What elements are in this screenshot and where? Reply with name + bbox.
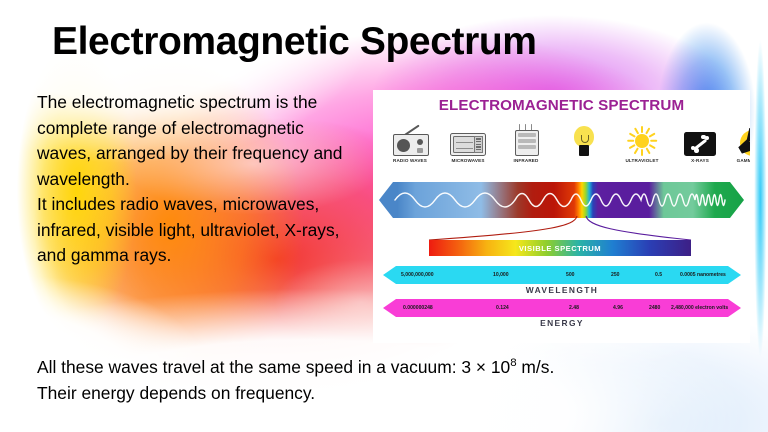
electromagnetic-spectrum-infographic: ELECTROMAGNETIC SPECTRUM RADIO WAVES (373, 90, 750, 343)
microwave-icon (439, 118, 497, 156)
page-title: Electromagnetic Spectrum (52, 21, 537, 63)
band-microwaves: MICROWAVES (439, 118, 497, 170)
sun-icon (613, 118, 671, 156)
band-label-ultraviolet: ULTRAVIOLET (613, 158, 671, 163)
radiation-icon (729, 118, 750, 156)
energy-tick-1: 0.124 (496, 305, 509, 311)
band-icon-row: RADIO WAVES MICROWAVES (381, 118, 742, 170)
band-ultraviolet: ULTRAVIOLET (613, 118, 671, 170)
xray-bone-icon (671, 118, 729, 156)
body-paragraph-2: It includes radio waves, microwaves, inf… (37, 192, 357, 269)
wavelength-tick-1: 10,000 (493, 272, 509, 278)
infographic-title: ELECTROMAGNETIC SPECTRUM (373, 97, 750, 114)
bottom-paragraph-1: All these waves travel at the same speed… (37, 355, 737, 381)
wavelength-caption: WAVELENGTH (383, 285, 741, 295)
energy-tick-5: 2,480,000 electron volts (671, 305, 728, 311)
visible-spectrum-label: VISIBLE SPECTRUM (429, 240, 691, 256)
bottom-text-speed: All these waves travel at the same speed… (37, 357, 510, 377)
bottom-paragraphs: All these waves travel at the same speed… (37, 355, 737, 406)
energy-ticks: 0.000000248 0.124 2.48 4.96 2480 2,480,0… (383, 299, 741, 317)
band-label-microwaves: MICROWAVES (439, 158, 497, 163)
energy-tick-4: 2480 (649, 305, 660, 311)
bottom-text-units: m/s. (517, 357, 555, 377)
body-paragraph-1: The electromagnetic spectrum is the comp… (37, 90, 357, 192)
wavelength-tick-3: 250 (611, 272, 620, 278)
energy-tick-0: 0.000000248 (403, 305, 433, 311)
energy-scale: 0.000000248 0.124 2.48 4.96 2480 2,480,0… (383, 299, 741, 317)
wavelength-tick-0: 5,000,000,000 (401, 272, 434, 278)
bottom-paragraph-2: Their energy depends on frequency. (37, 381, 737, 407)
band-radio-waves: RADIO WAVES (381, 118, 439, 170)
band-label-radio-waves: RADIO WAVES (381, 158, 439, 163)
band-label-x-rays: X-RAYS (671, 158, 729, 163)
radio-icon (381, 118, 439, 156)
lightbulb-icon (555, 118, 613, 156)
band-gamma-rays: GAMMA RAYS (729, 118, 750, 170)
wavelength-ticks: 5,000,000,000 10,000 500 250 0.5 0.0005 … (383, 266, 741, 284)
band-x-rays: X-RAYS (671, 118, 729, 170)
wavelength-tick-2: 500 (566, 272, 575, 278)
band-label-gamma-rays: GAMMA RAYS (729, 158, 750, 163)
infrared-heater-icon (497, 118, 555, 156)
slide: Electromagnetic Spectrum The electromagn… (0, 0, 768, 432)
spectrum-waveform (379, 182, 744, 218)
visible-spectrum-bar: VISIBLE SPECTRUM (429, 240, 691, 256)
body-paragraphs: The electromagnetic spectrum is the comp… (37, 90, 357, 269)
band-visible-light (555, 118, 613, 170)
wavelength-tick-5: 0.0005 nanometres (680, 272, 726, 278)
energy-tick-3: 4.96 (613, 305, 623, 311)
energy-caption: ENERGY (383, 318, 741, 328)
wavelength-scale: 5,000,000,000 10,000 500 250 0.5 0.0005 … (383, 266, 741, 284)
wavelength-tick-4: 0.5 (655, 272, 662, 278)
band-infrared: INFRARED (497, 118, 555, 170)
band-label-infrared: INFRARED (497, 158, 555, 163)
spectrum-arrow-bar (379, 182, 744, 218)
energy-tick-2: 2.48 (569, 305, 579, 311)
